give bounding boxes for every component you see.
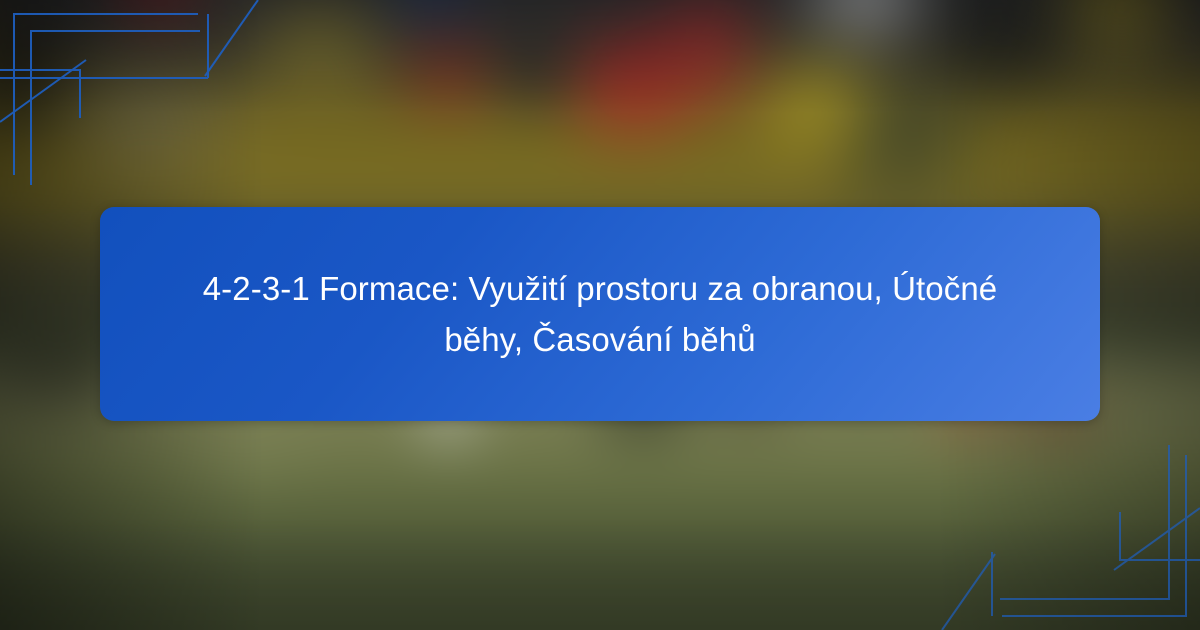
title-banner: 4-2-3-1 Formace: Využití prostoru za obr… (100, 207, 1100, 421)
social-card: 4-2-3-1 Formace: Využití prostoru za obr… (0, 0, 1200, 630)
page-title: 4-2-3-1 Formace: Využití prostoru za obr… (170, 263, 1030, 366)
